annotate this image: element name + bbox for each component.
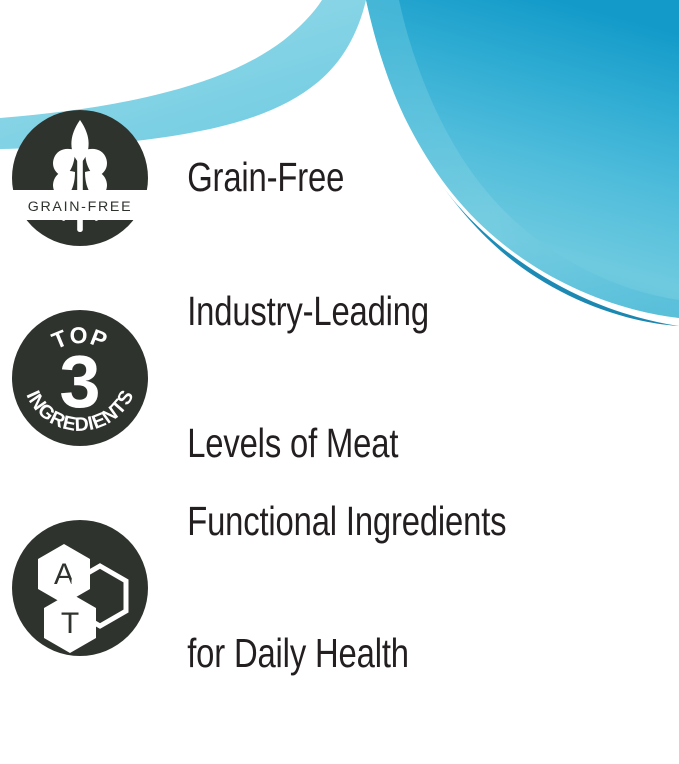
feature-line: Grain-Free <box>187 156 344 200</box>
feature-line: for Daily Health <box>187 632 506 676</box>
functional-ingredients-badge: A T <box>0 520 160 656</box>
feature-row-functional-ingredients: A T Functional Ingredients for Daily Hea… <box>0 520 679 656</box>
top-3-ingredients-seal-icon: TOP 3 INGREDIENTS <box>12 310 148 446</box>
feature-line: Functional Ingredients <box>187 500 506 544</box>
feature-text-functional-ingredients: Functional Ingredients for Daily Health <box>160 413 506 764</box>
grain-free-badge: GRAIN-FREE <box>0 110 160 246</box>
grain-free-label: GRAIN-FREE <box>28 199 133 215</box>
hexagon-a-label: A <box>54 558 74 591</box>
hexagon-t-label: T <box>61 607 79 640</box>
ingredient-count: 3 <box>59 340 100 423</box>
top-3-ingredients-badge: TOP 3 INGREDIENTS <box>0 310 160 446</box>
wheat-stalk-icon: GRAIN-FREE <box>12 110 148 246</box>
hexagon-molecule-icon: A T <box>12 520 148 656</box>
feature-line: Industry-Leading <box>187 290 429 334</box>
